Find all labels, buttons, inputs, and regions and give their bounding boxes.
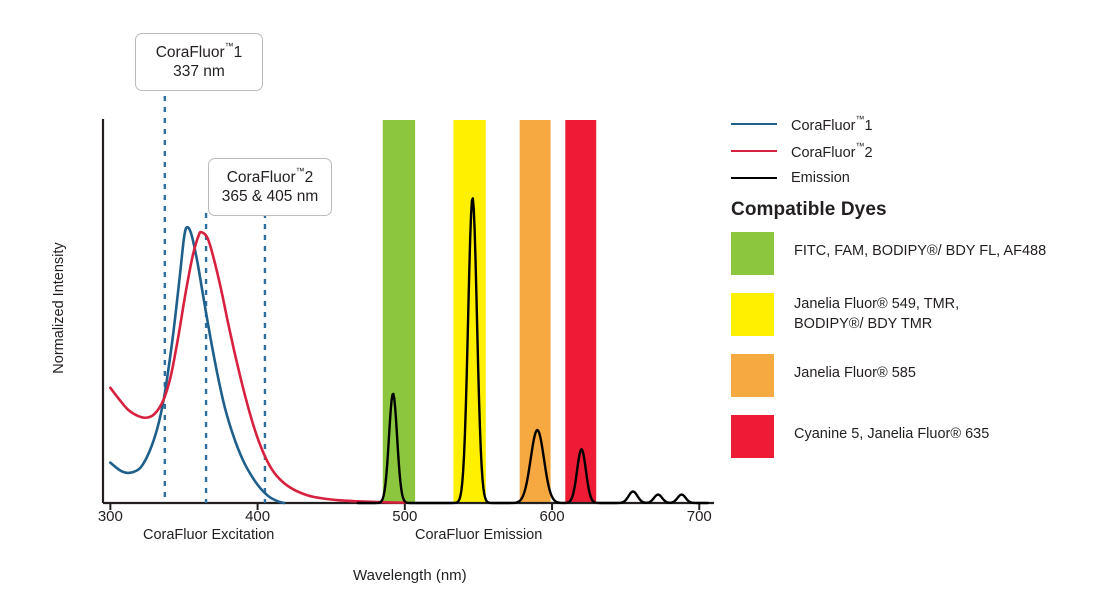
trademark-icon: ™ xyxy=(296,166,305,176)
legend-item-label: Emission xyxy=(791,170,850,186)
dye-color-swatch xyxy=(731,293,774,336)
dye-label: FITC, FAM, BODIPY®/ BDY FL, AF488 xyxy=(794,232,1046,262)
dye-row-1: Janelia Fluor® 549, TMR, BODIPY®/ BDY TM… xyxy=(731,293,1101,336)
dye-color-swatch xyxy=(731,415,774,458)
dye-color-swatch xyxy=(731,354,774,397)
legend-swatch-line xyxy=(731,150,777,152)
callout2-line1: CoraFluor™2 xyxy=(227,169,314,186)
callout2-line2: 365 & 405 nm xyxy=(221,187,319,206)
legend-item-2: Emission xyxy=(731,164,1091,191)
dye-label: Janelia Fluor® 585 xyxy=(794,354,916,384)
y-axis-label: Normalized Intensity xyxy=(51,223,67,393)
dye-label: Cyanine 5, Janelia Fluor® 635 xyxy=(794,415,989,445)
x-tick-label-400: 400 xyxy=(228,508,288,525)
red-band xyxy=(565,120,596,503)
x-axis-sublabel-excitation: CoraFluor Excitation xyxy=(143,527,274,543)
callout1-line1: CoraFluor™1 xyxy=(156,44,243,61)
callout-corafluor1: CoraFluor™1 337 nm xyxy=(135,33,263,91)
legend-swatch-line xyxy=(731,177,777,179)
orange-band xyxy=(520,120,551,503)
x-tick-label-500: 500 xyxy=(375,508,435,525)
x-tick-label-300: 300 xyxy=(80,508,140,525)
dye-label: Janelia Fluor® 549, TMR, BODIPY®/ BDY TM… xyxy=(794,293,959,334)
callout1-line2: 337 nm xyxy=(148,62,250,81)
x-axis-label: Wavelength (nm) xyxy=(353,567,467,584)
x-axis-sublabel-emission: CoraFluor Emission xyxy=(415,527,542,543)
legend-swatch-line xyxy=(731,123,777,125)
curve-corafluor1 xyxy=(110,227,284,503)
trademark-icon: ™ xyxy=(225,41,234,51)
legend-item-label: CoraFluor™1 xyxy=(791,114,873,134)
compatible-dyes-list: FITC, FAM, BODIPY®/ BDY FL, AF488Janelia… xyxy=(731,232,1101,476)
x-tick-label-700: 700 xyxy=(669,508,729,525)
dye-row-3: Cyanine 5, Janelia Fluor® 635 xyxy=(731,415,1101,458)
series-legend: CoraFluor™1CoraFluor™2Emission xyxy=(731,110,1091,191)
legend-item-label: CoraFluor™2 xyxy=(791,141,873,161)
callout-corafluor2: CoraFluor™2 365 & 405 nm xyxy=(208,158,332,216)
emission-bands-layer xyxy=(383,120,596,503)
curve-corafluor2 xyxy=(110,232,404,503)
dye-row-2: Janelia Fluor® 585 xyxy=(731,354,1101,397)
legend-item-1: CoraFluor™2 xyxy=(731,137,1091,164)
dye-row-0: FITC, FAM, BODIPY®/ BDY FL, AF488 xyxy=(731,232,1101,275)
x-tick-label-600: 600 xyxy=(522,508,582,525)
legend-item-0: CoraFluor™1 xyxy=(731,110,1091,137)
dye-color-swatch xyxy=(731,232,774,275)
compatible-dyes-heading: Compatible Dyes xyxy=(731,199,887,221)
